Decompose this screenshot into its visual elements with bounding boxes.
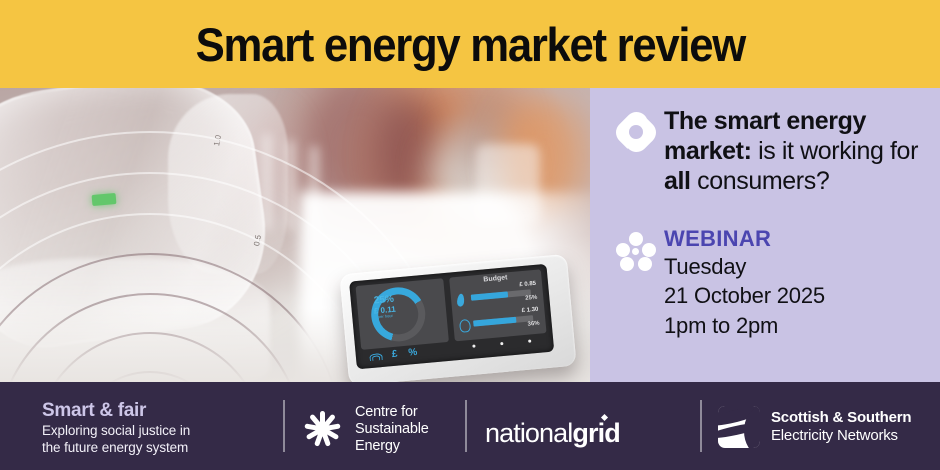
budget-bar <box>471 289 531 300</box>
headline-rest: is it working <box>752 137 884 165</box>
event-date: 21 October 2025 <box>664 281 825 310</box>
ssen-swoosh-icon <box>718 406 760 448</box>
headline-block: The smart energy market: is it working f… <box>608 106 936 196</box>
footer-divider <box>283 400 285 452</box>
event-details: WEBINAR Tuesday 21 October 2025 1pm to 2… <box>664 226 825 340</box>
cse-starburst-icon <box>300 407 344 451</box>
budget-percent: 25% <box>525 295 538 302</box>
headline-line2-post: consumers? <box>691 167 830 195</box>
meter-budget-panel: Budget £ 0.85 25% £ 1.30 36% <box>449 269 546 341</box>
national-grid-bold: grid <box>572 418 619 448</box>
event-banner: Smart energy market review 1.0 0.5 <box>0 0 940 470</box>
headline-line2-pre: for <box>890 137 918 165</box>
event-day: Tuesday <box>664 252 825 281</box>
percent-icon: % <box>408 348 418 359</box>
info-panel: The smart energy market: is it working f… <box>590 88 940 382</box>
footer-divider <box>700 400 702 452</box>
event-block: WEBINAR Tuesday 21 October 2025 1pm to 2… <box>608 226 825 340</box>
quatrefoil-icon <box>608 106 664 196</box>
event-time: 1pm to 2pm <box>664 311 825 340</box>
hero-photo: 1.0 0.5 25% £ 0. <box>0 88 590 382</box>
smart-meter-device: 25% £ 0.11 per hour Budget £ 0.85 25% <box>339 254 576 382</box>
flower-dots-icon <box>608 226 664 340</box>
footer-divider <box>465 400 467 452</box>
national-grid-light: national <box>485 418 572 448</box>
wifi-icon <box>370 352 382 361</box>
national-grid-bold-text: grid <box>572 418 619 448</box>
cse-line-2: Sustainable <box>355 421 429 438</box>
budget-amount: £ 1.30 <box>522 307 539 314</box>
page-title: Smart energy market review <box>195 21 744 68</box>
ssen-logo: Scottish & Southern Electricity Networks <box>718 406 911 448</box>
cse-line-1: Centre for <box>355 404 429 421</box>
smart-and-fair-logo: Smart & fair Exploring social justice in… <box>42 400 190 456</box>
budget-amount: £ 0.85 <box>519 281 536 288</box>
cse-wordmark: Centre for Sustainable Energy <box>355 404 429 454</box>
budget-percent: 36% <box>527 321 540 328</box>
ssen-wordmark: Scottish & Southern Electricity Networks <box>771 409 911 444</box>
cse-line-3: Energy <box>355 438 429 455</box>
budget-row: £ 1.30 36% <box>459 307 543 336</box>
smart-fair-tagline-2: the future energy system <box>42 439 190 456</box>
meter-led-indicator <box>92 193 117 206</box>
currency-icon: £ <box>391 350 397 360</box>
usage-readout: 25% £ 0.11 per hour <box>357 293 413 321</box>
budget-row: £ 0.85 25% <box>456 282 540 311</box>
national-grid-logo: nationalgrid <box>485 418 620 449</box>
ssen-line-1: Scottish & Southern <box>771 409 911 427</box>
banner-header: Smart energy market review <box>0 0 940 88</box>
meter-usage-panel: 25% £ 0.11 per hour <box>356 278 449 350</box>
smart-fair-title: Smart & fair <box>42 400 190 422</box>
budget-bar <box>473 315 533 326</box>
headline-text: The smart energy market: is it working f… <box>664 106 936 196</box>
smart-meter-screen: 25% £ 0.11 per hour Budget £ 0.85 25% <box>349 264 554 370</box>
event-type: WEBINAR <box>664 226 825 252</box>
smart-fair-tagline-1: Exploring social justice in <box>42 422 190 439</box>
headline-all-bold: all <box>664 167 691 195</box>
bulb-icon <box>459 319 471 333</box>
banner-footer: Smart & fair Exploring social justice in… <box>0 382 940 470</box>
ssen-line-2: Electricity Networks <box>771 427 911 445</box>
flame-icon <box>457 293 465 307</box>
cse-logo: Centre for Sustainable Energy <box>300 404 429 454</box>
page-indicator-dots <box>459 338 543 349</box>
